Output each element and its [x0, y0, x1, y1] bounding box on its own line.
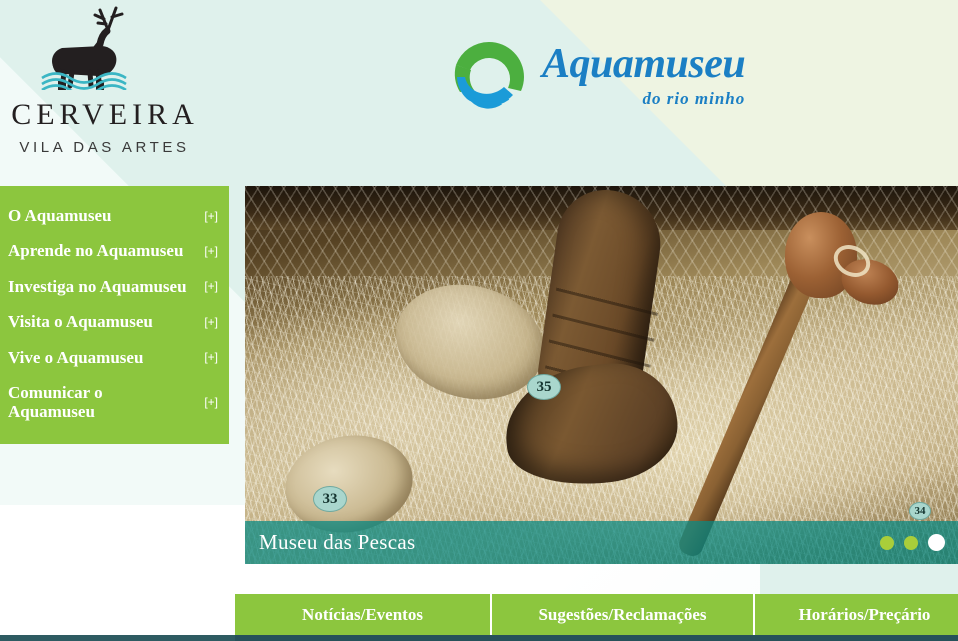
municipality-name: CERVEIRA — [5, 100, 205, 130]
slider-photo: 35 33 34 — [245, 186, 958, 564]
sidebar-item-visita-o-aquamuseu[interactable]: Visita o Aquamuseu [+] — [0, 304, 229, 339]
hero-slider[interactable]: 35 33 34 Museu das Pescas — [245, 186, 958, 564]
expand-plus-icon[interactable]: [+] — [198, 209, 218, 223]
expand-plus-icon[interactable]: [+] — [198, 244, 218, 258]
deer-over-water-icon — [0, 4, 205, 90]
expand-plus-icon[interactable]: [+] — [198, 315, 218, 329]
sidebar-item-label: Comunicar o Aquamuseu — [8, 383, 188, 422]
museum-logo-text: Aquamuseu do rio minho — [542, 45, 745, 109]
sidebar-item-label: O Aquamuseu — [8, 206, 111, 225]
artifact-tag-34: 34 — [909, 502, 931, 520]
deer-logo — [0, 4, 205, 90]
sidebar-item-label: Investiga no Aquamuseu — [8, 277, 187, 296]
sidebar-item-o-aquamuseu[interactable]: O Aquamuseu [+] — [0, 198, 229, 233]
sidebar-item-comunicar-o-aquamuseu[interactable]: Comunicar o Aquamuseu [+] — [0, 375, 229, 430]
site-header: CERVEIRA VILA DAS ARTES Aquamuseu do rio… — [0, 0, 958, 186]
municipality-tagline: VILA DAS ARTES — [4, 139, 205, 156]
slider-pagination-dots — [880, 534, 945, 551]
sidebar-item-label: Aprende no Aquamuseu — [8, 241, 183, 260]
footer-strip-left — [0, 635, 235, 641]
bottom-nav-noticias-eventos[interactable]: Notícias/Eventos — [235, 594, 490, 636]
sidebar-item-investiga-no-aquamuseu[interactable]: Investiga no Aquamuseu [+] — [0, 269, 229, 304]
museum-title: Aquamuseu — [542, 45, 745, 85]
museum-logo[interactable]: Aquamuseu do rio minho — [452, 40, 745, 114]
bottom-nav-sugestoes-reclamacoes[interactable]: Sugestões/Reclamações — [490, 594, 755, 636]
sidebar-navigation: O Aquamuseu [+] Aprende no Aquamuseu [+]… — [0, 186, 229, 444]
slider-dot-2[interactable] — [904, 536, 918, 550]
expand-plus-icon[interactable]: [+] — [198, 279, 218, 293]
expand-plus-icon[interactable]: [+] — [198, 350, 218, 364]
slider-dot-1[interactable] — [880, 536, 894, 550]
artifact-tag-33: 33 — [313, 486, 347, 512]
sidebar-item-label: Visita o Aquamuseu — [8, 312, 153, 331]
bottom-navigation: Notícias/Eventos Sugestões/Reclamações H… — [235, 594, 958, 636]
museum-subtitle: do rio minho — [542, 89, 745, 109]
leather-boot-artifact — [507, 190, 697, 490]
page-root: CERVEIRA VILA DAS ARTES Aquamuseu do rio… — [0, 0, 958, 641]
sidebar-item-aprende-no-aquamuseu[interactable]: Aprende no Aquamuseu [+] — [0, 233, 229, 268]
sidebar-item-label: Vive o Aquamuseu — [8, 348, 143, 367]
boot-foot — [498, 356, 683, 494]
slider-caption-bar: Museu das Pescas — [245, 521, 958, 564]
bottom-nav-horarios-precario[interactable]: Horários/Preçário — [755, 594, 956, 636]
slider-dot-3-active[interactable] — [928, 534, 945, 551]
expand-plus-icon[interactable]: [+] — [198, 395, 218, 409]
artifact-tag-35: 35 — [527, 374, 561, 400]
municipality-brand[interactable]: CERVEIRA VILA DAS ARTES — [0, 0, 205, 156]
sidebar-item-vive-o-aquamuseu[interactable]: Vive o Aquamuseu [+] — [0, 340, 229, 375]
slider-caption-text: Museu das Pescas — [259, 530, 415, 555]
green-arc-blue-wave-icon — [452, 40, 526, 114]
